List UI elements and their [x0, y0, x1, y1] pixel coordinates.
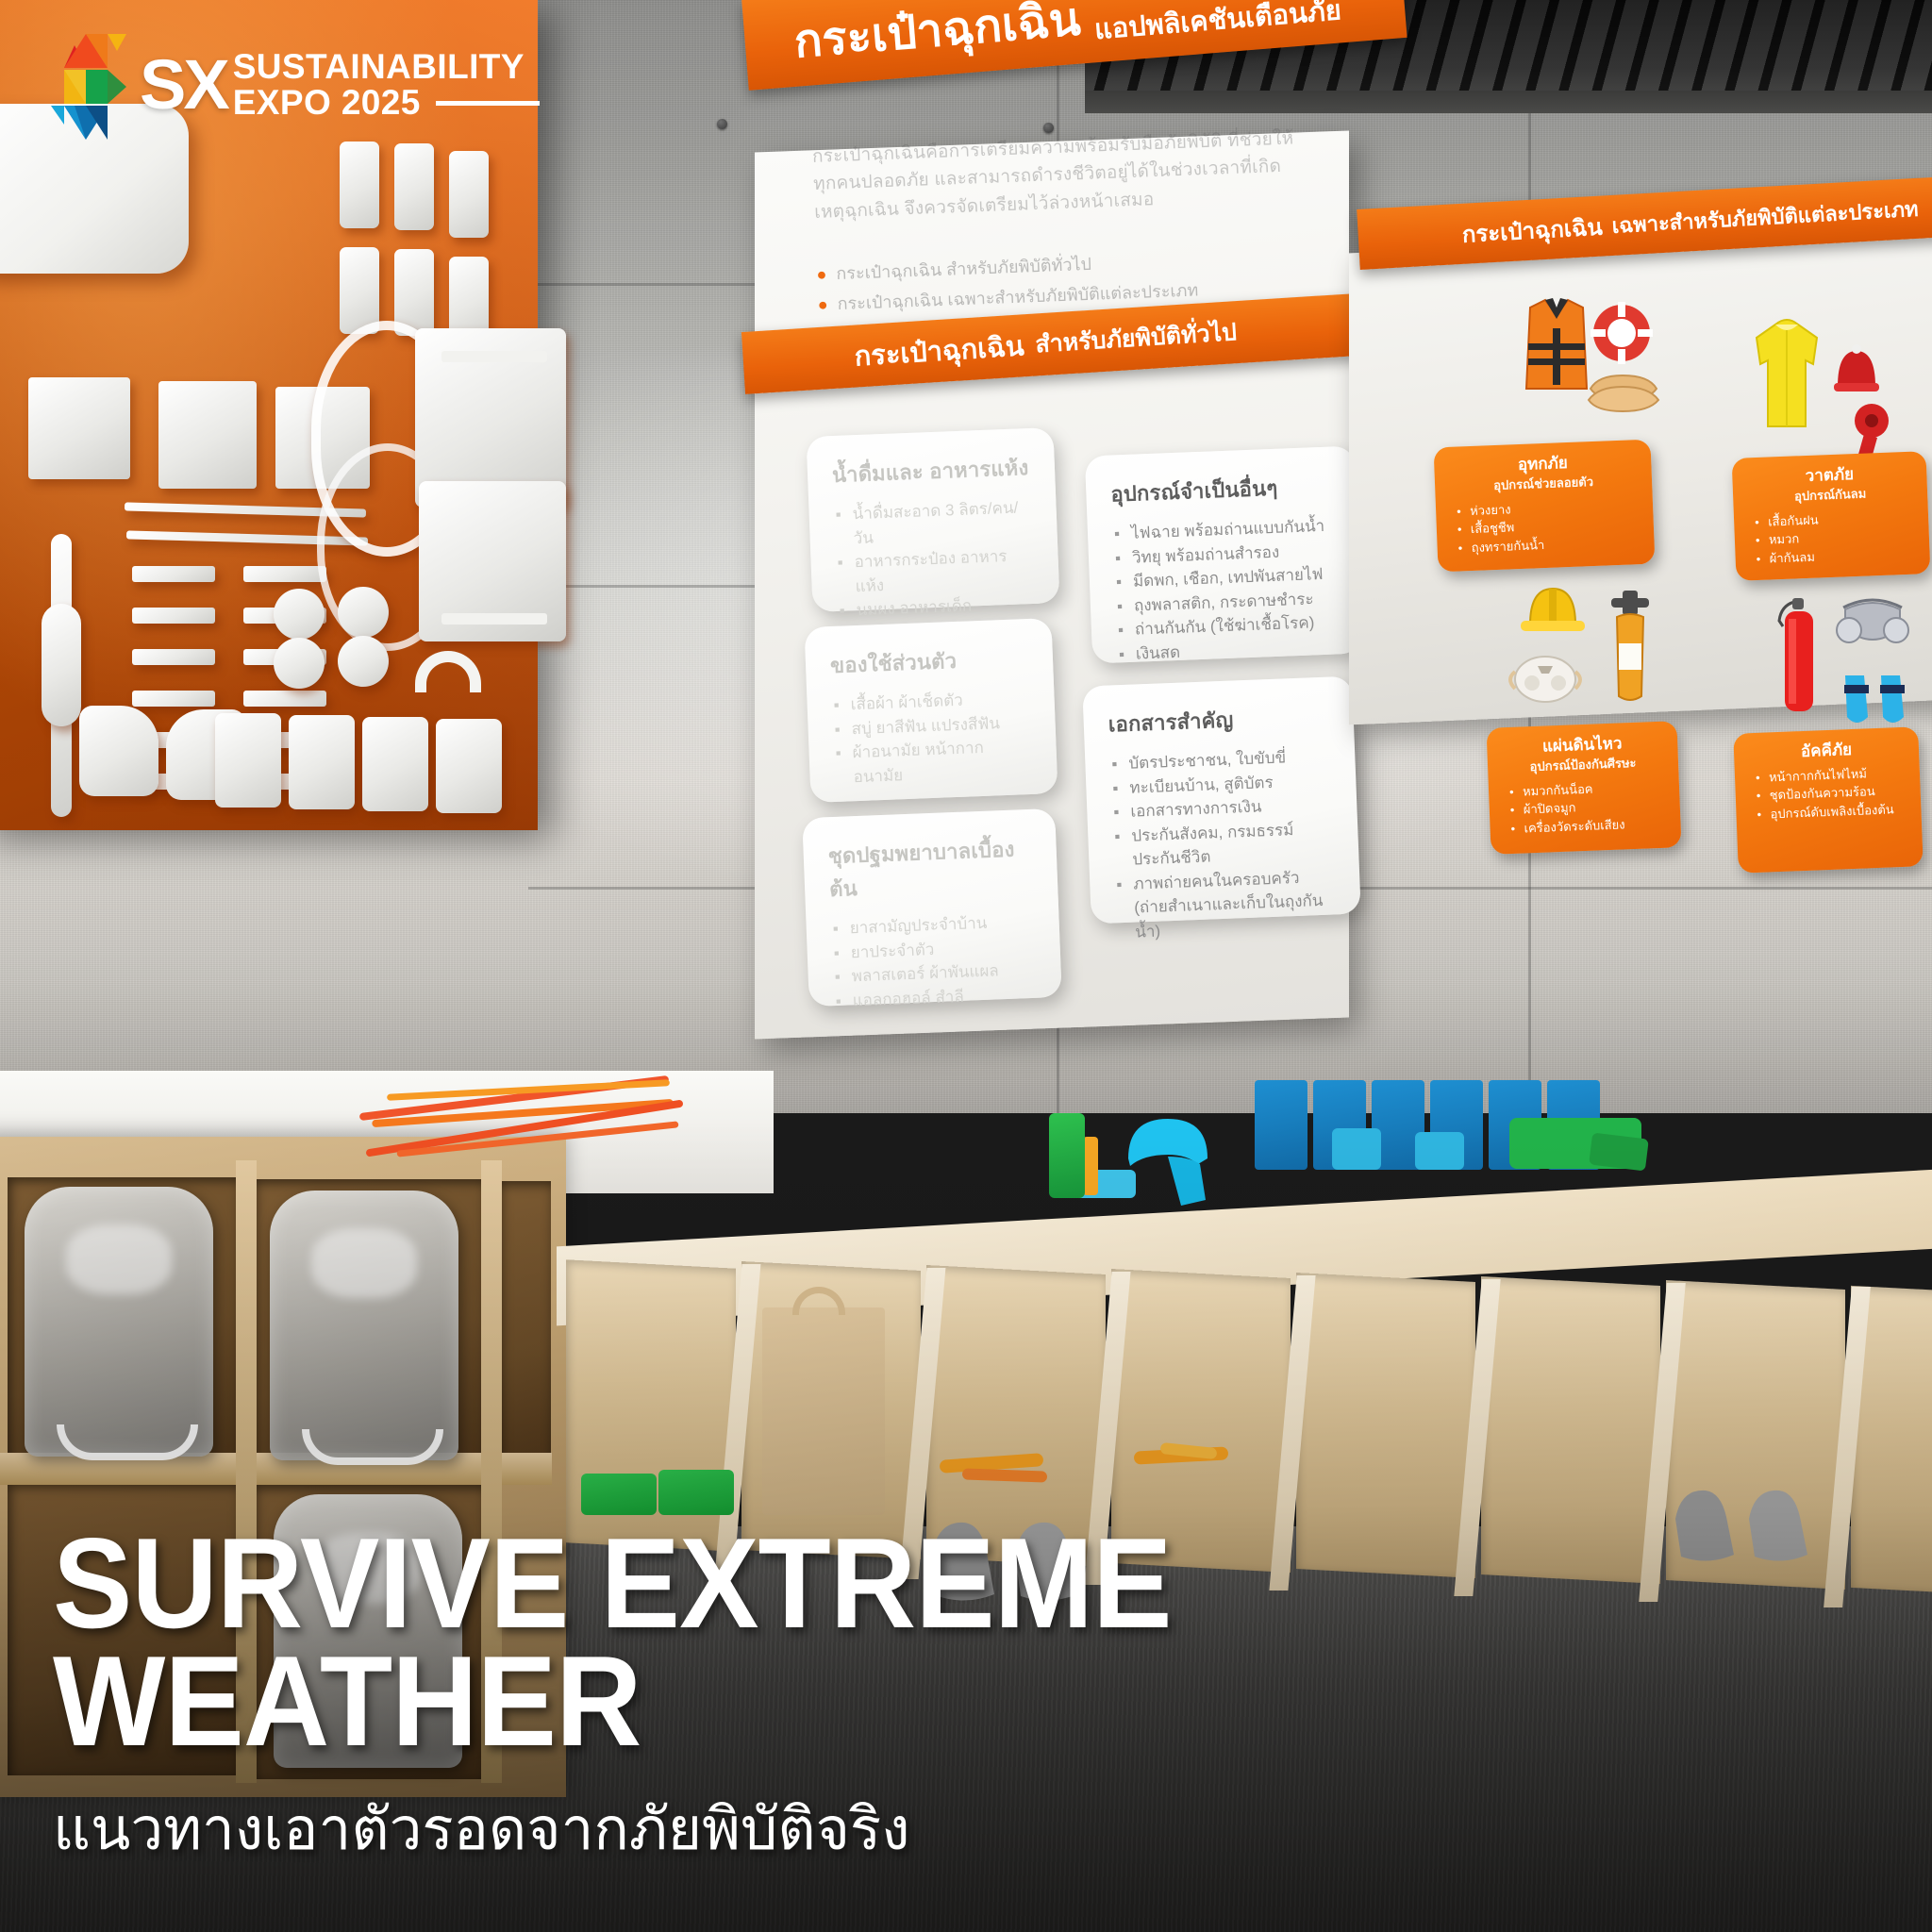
white-disc — [274, 638, 325, 689]
white-capsule — [340, 142, 379, 228]
wall-bolt — [1043, 123, 1054, 133]
white-disc — [274, 589, 325, 640]
storage-bin — [1296, 1273, 1475, 1578]
life-ring-icon — [1589, 300, 1655, 366]
sx-tangram-logo-icon — [45, 30, 126, 140]
kit-card-title: ชุดปฐมพยาบาลเบื้องต้น — [827, 832, 1034, 906]
dust-mask-icon — [1506, 651, 1585, 706]
white-capsule — [394, 143, 434, 230]
white-capsule — [340, 247, 379, 334]
white-bar — [243, 691, 326, 707]
white-bar — [132, 649, 215, 665]
banner-right-subtitle: เฉพาะสำหรับภัยพิบัติแต่ละประเภท — [1611, 192, 1920, 241]
bag-strap — [57, 1424, 198, 1460]
kit-card-item: อาหารกระป๋อง อาหารแห้ง — [835, 543, 1035, 599]
green-foam-block — [1589, 1132, 1649, 1171]
green-item — [658, 1470, 734, 1515]
kit-card-title: อุปกรณ์จำเป็นอื่นๆ — [1110, 470, 1332, 511]
kit-card-title: เอกสารสำคัญ — [1108, 700, 1329, 741]
white-tool-body — [42, 604, 81, 726]
cyan-foam-block — [1415, 1132, 1464, 1170]
tray-slot — [441, 613, 547, 625]
kit-card-first-aid: ชุดปฐมพยาบาลเบื้องต้น ยาสามัญประจำบ้าน ย… — [802, 808, 1061, 1007]
tray-slot — [441, 351, 547, 362]
emergency-bag — [25, 1187, 213, 1457]
white-bar — [132, 691, 215, 707]
white-pouch — [28, 377, 130, 479]
kit-card-item: น้ำดื่มสะอาด 3 ลิตร/คน/วัน — [833, 495, 1033, 551]
white-glove — [79, 706, 158, 796]
blue-gloves-icon — [1840, 660, 1915, 732]
bullet-dot-icon: ● — [816, 260, 827, 291]
kit-card-list: บัตรประชาชน, ใบขับขี่ ทะเบียนบ้าน, สูติบ… — [1109, 744, 1338, 945]
sandbag-icon — [1583, 368, 1664, 413]
disaster-box-fire: อัคคีภัย หน้ากากกันไฟไหม้ ชุดป้องกันความ… — [1733, 726, 1924, 873]
kit-card-list: เสื้อผ้า ผ้าเช็ดตัว สบู่ ยาสีฟัน แปรงสีฟ… — [831, 686, 1033, 790]
kit-card-water-food: น้ำดื่มและ อาหารแห้ง น้ำดื่มสะอาด 3 ลิตร… — [807, 427, 1060, 612]
disaster-box-earthquake: แผ่นดินไหว อุปกรณ์ป้องกันศีรษะ หมวกกันน็… — [1487, 721, 1682, 855]
green-item — [581, 1474, 657, 1515]
sx-logo-lines: SUSTAINABILITY EXPO 2025 — [233, 49, 540, 122]
cyan-foam-block — [1332, 1128, 1381, 1170]
storage-bin — [1481, 1276, 1660, 1584]
flashlight-icon — [1604, 591, 1657, 706]
sx-logo-line2: EXPO 2025 — [233, 85, 421, 121]
kit-card-personal: ของใช้ส่วนตัว เสื้อผ้า ผ้าเช็ดตัว สบู่ ย… — [805, 618, 1058, 803]
paper-bag — [762, 1307, 885, 1515]
sx-logo-line2-wrap: EXPO 2025 — [233, 85, 540, 121]
headline-line-1: SURVIVE EXTREME — [53, 1524, 1172, 1642]
white-bar — [243, 566, 326, 582]
red-hat-icon — [1828, 340, 1885, 396]
kit-card-item: ภาพถ่ายคนในครอบครัว (ถ่ายสำเนาและเก็บในถ… — [1114, 864, 1338, 944]
kit-card-item: ผ้าอนามัย หน้ากากอนามัย — [833, 734, 1033, 790]
kit-card-list: ยาสามัญประจำบ้าน ยาประจำตัว พลาสเตอร์ ผ้… — [830, 909, 1038, 1013]
hard-hat-icon — [1515, 579, 1591, 638]
white-disc — [338, 636, 389, 687]
disaster-box-list: หน้ากากกันไฟไหม้ ชุดป้องกันความร้อน อุปก… — [1748, 762, 1908, 824]
cyan-cap-icon — [1111, 1102, 1224, 1215]
grey-shoes-icon — [1670, 1477, 1840, 1572]
kit-card-title: ของใช้ส่วนตัว — [829, 641, 1028, 682]
disaster-box-list: เสื้อกันฝน หมวก ผ้ากันลม — [1747, 507, 1917, 568]
bag-strap — [302, 1429, 443, 1465]
wall-bolt — [717, 119, 727, 129]
white-block — [436, 719, 502, 813]
white-block — [289, 715, 355, 809]
white-bar — [132, 608, 215, 624]
green-bottle — [1049, 1113, 1085, 1198]
banner-middle-title: กระเป๋าฉุกเฉิน — [853, 324, 1025, 377]
kit-card-other-equipment: อุปกรณ์จำเป็นอื่นๆ ไฟฉาย พร้อมถ่านแบบกัน… — [1085, 446, 1362, 664]
sx-logo-text: SX SUSTAINABILITY EXPO 2025 — [140, 49, 540, 122]
respirator-icon — [1832, 592, 1913, 657]
sx-logo[interactable]: SX SUSTAINABILITY EXPO 2025 — [45, 30, 540, 140]
orange-rods-pile — [358, 1085, 755, 1151]
orange-rod — [1083, 1137, 1098, 1195]
disaster-box-list: หมวกกันน็อค ผ้าปิดจมูก เครื่องวัดระดับเส… — [1502, 776, 1668, 838]
banner-top-title: กระเป๋าฉุกเฉิน — [791, 0, 1084, 78]
bullet-dot-icon: ● — [817, 290, 828, 320]
sx-logo-line1: SUSTAINABILITY — [233, 49, 540, 85]
white-block — [362, 717, 428, 811]
kit-card-title: น้ำดื่มและ อาหารแห้ง — [831, 451, 1030, 491]
sx-logo-sx: SX — [140, 53, 227, 117]
disaster-box-item: อุปกรณ์ดับเพลิงเบื้องต้น — [1770, 799, 1908, 823]
white-block — [215, 713, 281, 808]
kit-card-documents: เอกสารสำคัญ บัตรประชาชน, ใบขับขี่ ทะเบีย… — [1082, 676, 1360, 924]
kit-card-list: น้ำดื่มสะอาด 3 ลิตร/คน/วัน อาหารกระป๋อง … — [833, 495, 1036, 623]
disaster-box-flood: อุทกภัย อุปกรณ์ช่วยลอยตัว ห่วงยาง เสื้อช… — [1434, 440, 1656, 573]
disaster-box-title: อัคคีภัย — [1747, 739, 1907, 763]
expo-photo-poster: กระเป๋าฉุกเฉินคือการเตรียมความพร้อมรับมื… — [0, 0, 1932, 1932]
shelf-cell — [498, 1181, 551, 1464]
headline-subtitle: แนวทางเอาตัวรอดจากภัยพิบัติจริง — [53, 1783, 1256, 1875]
banner-right-title: กระเป๋าฉุกเฉิน — [1461, 208, 1604, 252]
raincoat-icon — [1747, 315, 1826, 436]
white-capsule — [449, 151, 489, 238]
white-disc — [338, 587, 389, 638]
kit-card-list: ไฟฉาย พร้อมถ่านแบบกันน้ำ วิทยุ พร้อมถ่าน… — [1112, 514, 1339, 667]
disaster-box-wind: วาตภัย อุปกรณ์กันลม เสื้อกันฝน หมวก ผ้าก… — [1732, 451, 1931, 581]
white-bar — [132, 566, 215, 582]
kit-card-item: ประกันสังคม, กรมธรรม์ ประกันชีวิต — [1112, 816, 1335, 873]
disaster-box-list: ห่วงยาง เสื้อชูชีพ ถุงทรายกันน้ำ — [1449, 495, 1641, 558]
headline-line-2: WEATHER — [53, 1642, 1172, 1760]
sx-logo-rule — [436, 101, 540, 106]
white-pouch — [158, 381, 257, 489]
banner-middle-subtitle: สำหรับภัยพิบัติทั่วไป — [1034, 313, 1238, 363]
fire-extinguisher-icon — [1772, 598, 1826, 717]
emergency-bag — [270, 1191, 458, 1460]
headline-block: SURVIVE EXTREME WEATHER แนวทางเอาตัวรอดจ… — [53, 1524, 1256, 1875]
